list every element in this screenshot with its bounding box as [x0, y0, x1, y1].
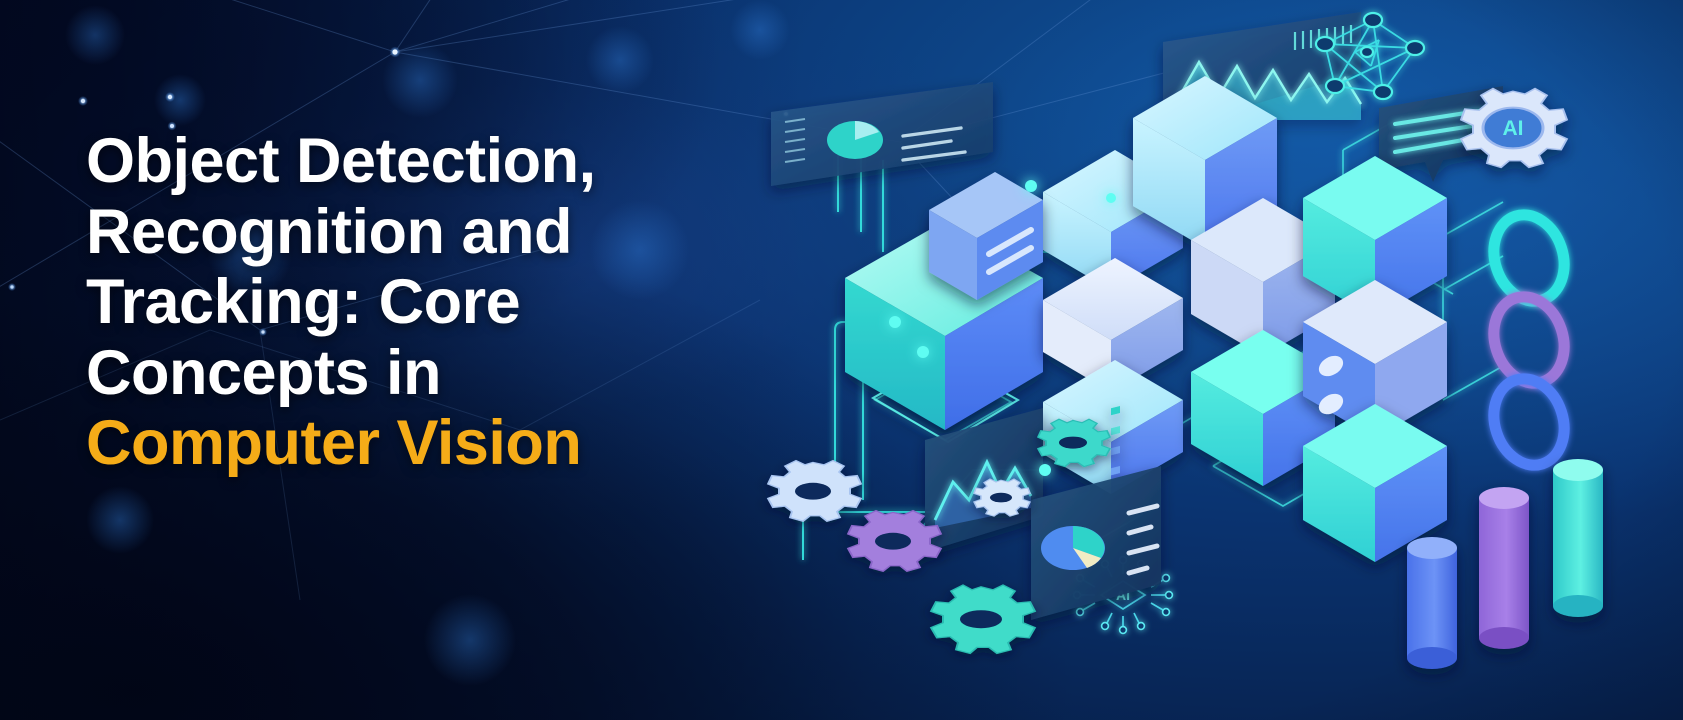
gear-teal-large	[931, 585, 1035, 653]
ai-gear-label: AI	[1503, 117, 1524, 140]
headline-line-1: Object Detection,	[86, 126, 766, 197]
cylinder-blue	[1407, 537, 1457, 669]
cylinder-teal	[1553, 459, 1603, 617]
pie-slice-group-bottom	[1041, 526, 1105, 570]
headline-line-4: Concepts in	[86, 338, 766, 409]
headline-line-2: Recognition and	[86, 197, 766, 268]
isometric-ai-illustration: AI AI	[743, 0, 1683, 720]
headline-block: Object Detection, Recognition and Tracki…	[86, 126, 766, 479]
hero-banner: Object Detection, Recognition and Tracki…	[0, 0, 1683, 720]
line-chart-panel	[925, 408, 1043, 552]
headline-accent-line: Computer Vision	[86, 408, 766, 479]
headline-line-3: Tracking: Core	[86, 267, 766, 338]
pie-slice-group	[827, 121, 883, 159]
cylinder-purple	[1479, 487, 1529, 649]
